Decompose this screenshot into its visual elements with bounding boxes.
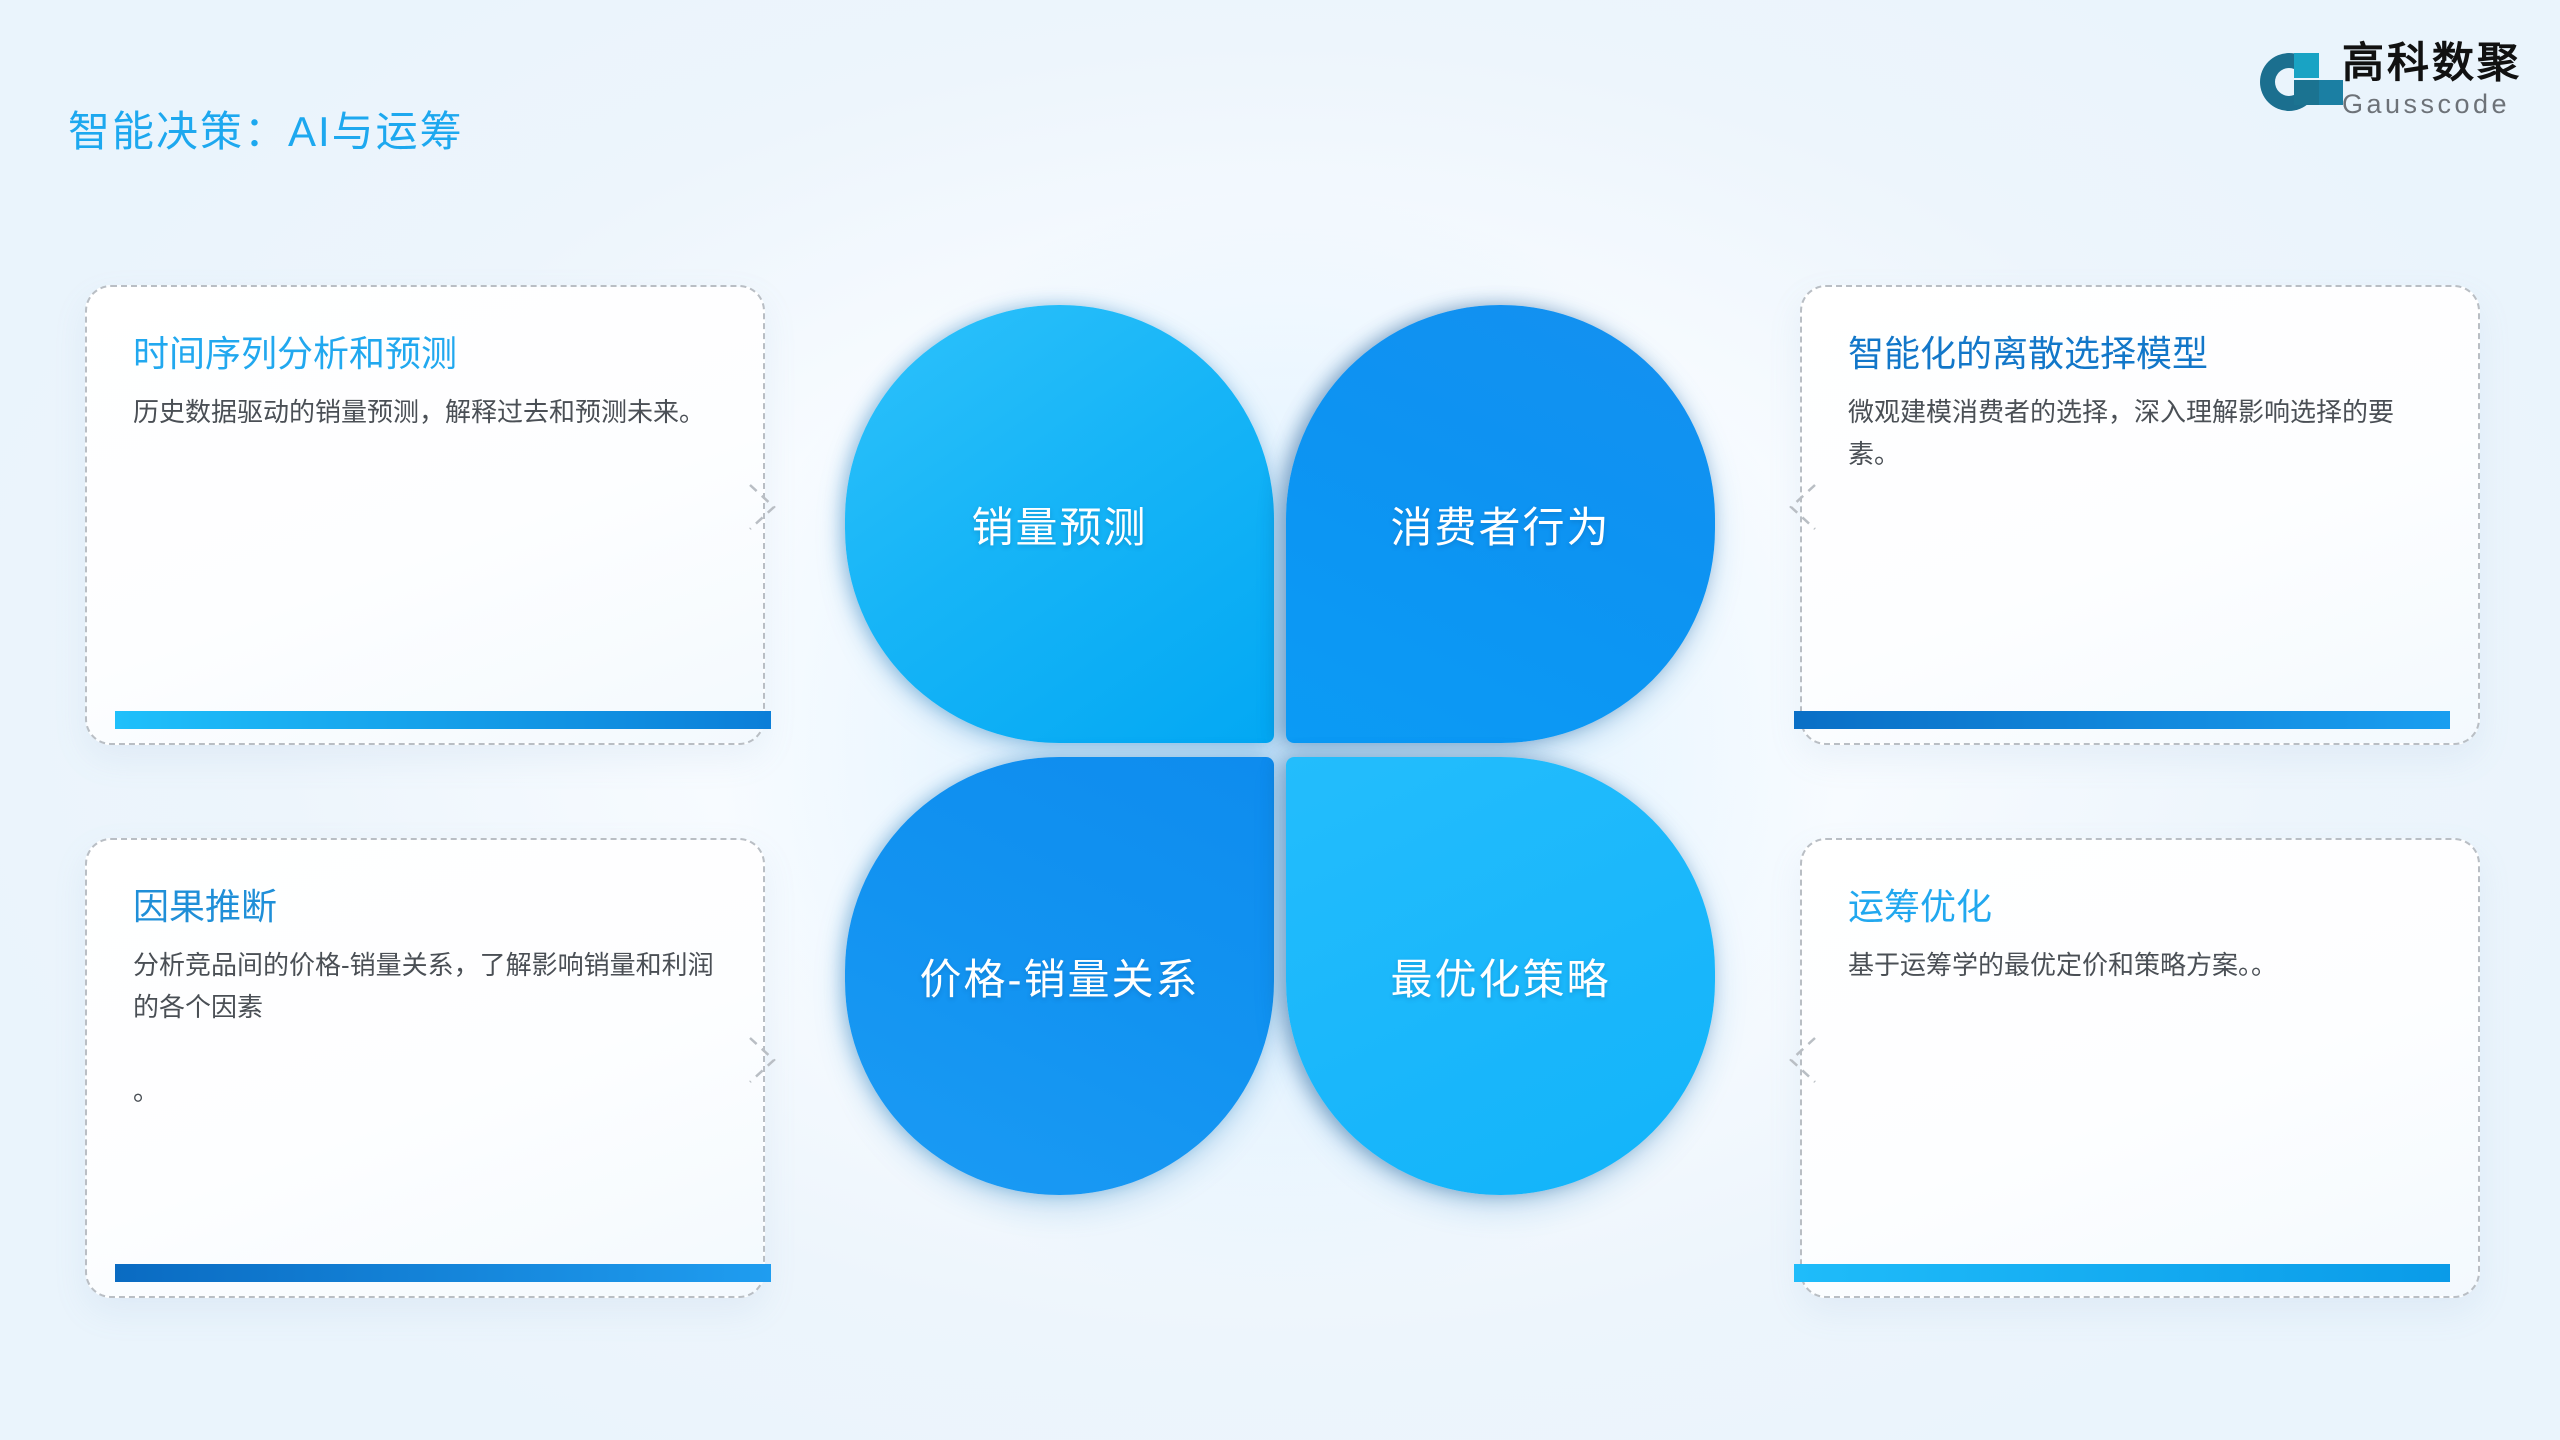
chevron-left-icon bbox=[1777, 477, 1821, 537]
card-body: 基于运筹学的最优定价和策略方案。。 bbox=[1848, 944, 2436, 986]
card-title: 因果推断 bbox=[133, 878, 277, 930]
logo-name-en: Gausscode bbox=[2342, 91, 2522, 118]
card-body: 分析竞品间的价格-销量关系，了解影响销量和利润的各个因素 。 bbox=[133, 944, 721, 1112]
card-discrete-choice[interactable]: 智能化的离散选择模型 微观建模消费者的选择，深入理解影响选择的要素。 bbox=[1800, 285, 2480, 745]
page-header: 智能决策：AI与运筹 高科数聚 Gausscode bbox=[0, 0, 2560, 190]
chevron-right-icon bbox=[744, 477, 788, 537]
page-title: 智能决策：AI与运筹 bbox=[68, 98, 464, 159]
brand-logo: 高科数聚 Gausscode bbox=[2260, 42, 2522, 118]
gausscode-logo-icon bbox=[2260, 47, 2326, 113]
card-body: 历史数据驱动的销量预测，解释过去和预测未来。 bbox=[133, 391, 721, 433]
petal-sales-forecast[interactable]: 销量预测 bbox=[845, 305, 1274, 743]
petal-price-sales-relation[interactable]: 价格-销量关系 bbox=[845, 757, 1274, 1195]
card-accent-bar bbox=[115, 1264, 771, 1282]
card-operations-optimization[interactable]: 运筹优化 基于运筹学的最优定价和策略方案。。 bbox=[1800, 838, 2480, 1298]
card-accent-bar bbox=[1794, 711, 2450, 729]
logo-name-cn: 高科数聚 bbox=[2342, 42, 2522, 84]
petal-consumer-behavior[interactable]: 消费者行为 bbox=[1286, 305, 1715, 743]
flower-glow bbox=[715, 185, 1845, 1315]
card-accent-bar bbox=[115, 711, 771, 729]
card-title: 智能化的离散选择模型 bbox=[1848, 325, 2208, 377]
card-body: 微观建模消费者的选择，深入理解影响选择的要素。 bbox=[1848, 391, 2436, 475]
flower-diagram: 销量预测 消费者行为 价格-销量关系 最优化策略 bbox=[845, 305, 1715, 1195]
chevron-right-icon bbox=[744, 1030, 788, 1090]
card-title: 时间序列分析和预测 bbox=[133, 325, 457, 377]
card-causal-inference[interactable]: 因果推断 分析竞品间的价格-销量关系，了解影响销量和利润的各个因素 。 bbox=[85, 838, 765, 1298]
card-title: 运筹优化 bbox=[1848, 878, 1992, 930]
card-time-series[interactable]: 时间序列分析和预测 历史数据驱动的销量预测，解释过去和预测未来。 bbox=[85, 285, 765, 745]
chevron-left-icon bbox=[1777, 1030, 1821, 1090]
petal-optimal-strategy[interactable]: 最优化策略 bbox=[1286, 757, 1715, 1195]
card-accent-bar bbox=[1794, 1264, 2450, 1282]
